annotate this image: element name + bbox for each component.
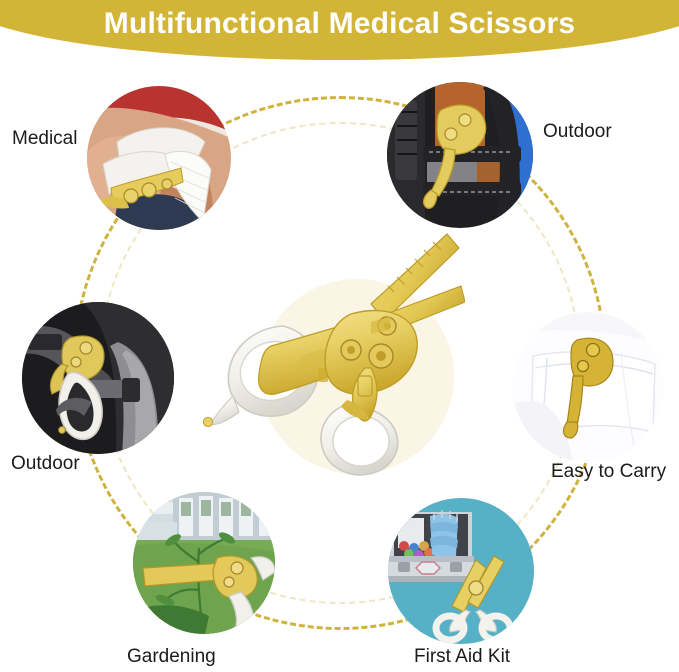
label-medical: Medical (12, 128, 77, 150)
bubble-carry[interactable] (513, 312, 663, 462)
garden-plant-photo (133, 492, 275, 634)
center-product-image (175, 228, 465, 484)
bubble-gardening[interactable] (133, 492, 275, 634)
shirt-pocket-photo (513, 312, 663, 462)
header-banner: Multifunctional Medical Scissors (0, 0, 679, 60)
bubble-outdoor-2[interactable] (22, 302, 174, 454)
bubble-firstaid[interactable] (388, 498, 534, 644)
label-easy-to-carry: Easy to Carry (551, 461, 666, 483)
first-aid-case-photo (388, 498, 534, 644)
bubble-medical[interactable] (87, 86, 231, 230)
bandaged-knee-photo (87, 86, 231, 230)
backpack-strap-photo (22, 302, 174, 454)
scissors-illustration (175, 228, 465, 484)
backpack-pocket-photo (387, 82, 533, 228)
label-outdoor-1: Outdoor (543, 121, 612, 143)
label-first-aid-kit: First Aid Kit (414, 646, 510, 668)
infographic-page: Multifunctional Medical Scissors (0, 0, 679, 672)
page-title: Multifunctional Medical Scissors (0, 8, 679, 40)
label-outdoor-2: Outdoor (11, 453, 80, 475)
label-gardening: Gardening (127, 646, 216, 668)
bubble-outdoor-1[interactable] (387, 82, 533, 228)
